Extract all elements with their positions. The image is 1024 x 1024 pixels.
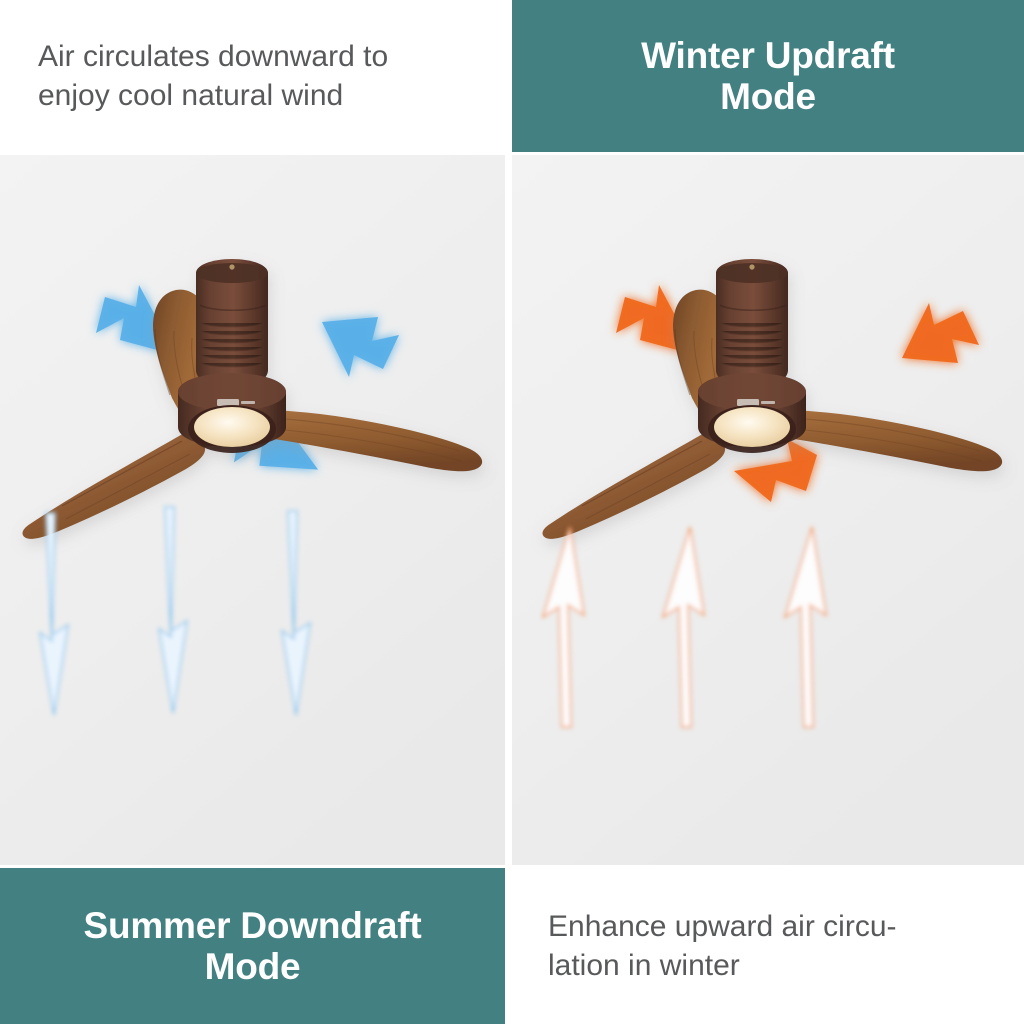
summer-caption-line2: enjoy cool natural wind xyxy=(38,76,388,115)
winter-caption-text: Enhance upward air circu- lation in wint… xyxy=(512,868,1024,1024)
led-light-lens xyxy=(714,407,790,447)
winter-title-panel: Winter Updraft Mode xyxy=(512,0,1024,152)
summer-title-text: Summer Downdraft Mode xyxy=(0,868,505,1024)
summer-caption-panel: Air circulates downward to enjoy cool na… xyxy=(0,0,505,152)
fan-downdraft-illustration xyxy=(0,155,505,865)
summer-title-line1: Summer Downdraft xyxy=(83,905,421,946)
fan-image-downdraft xyxy=(0,155,505,865)
housing-screw xyxy=(229,264,234,269)
winter-caption-panel: Enhance upward air circu- lation in wint… xyxy=(512,868,1024,1024)
housing-screw xyxy=(749,264,754,269)
summer-title-line2: Mode xyxy=(83,946,421,987)
fan-image-updraft xyxy=(512,155,1024,865)
winter-title-text: Winter Updraft Mode xyxy=(512,0,1024,152)
winter-title-line2: Mode xyxy=(641,76,895,117)
led-light-lens xyxy=(194,407,270,447)
winter-caption-line1: Enhance upward air circu- xyxy=(548,907,897,946)
winter-title-line1: Winter Updraft xyxy=(641,35,895,76)
summer-caption-text: Air circulates downward to enjoy cool na… xyxy=(0,0,505,152)
summer-title-panel: Summer Downdraft Mode xyxy=(0,868,505,1024)
summer-caption-line1: Air circulates downward to xyxy=(38,37,388,76)
infographic-page: Air circulates downward to enjoy cool na… xyxy=(0,0,1024,1024)
winter-caption-line2: lation in winter xyxy=(548,946,897,985)
fan-updraft-illustration xyxy=(512,155,1024,865)
